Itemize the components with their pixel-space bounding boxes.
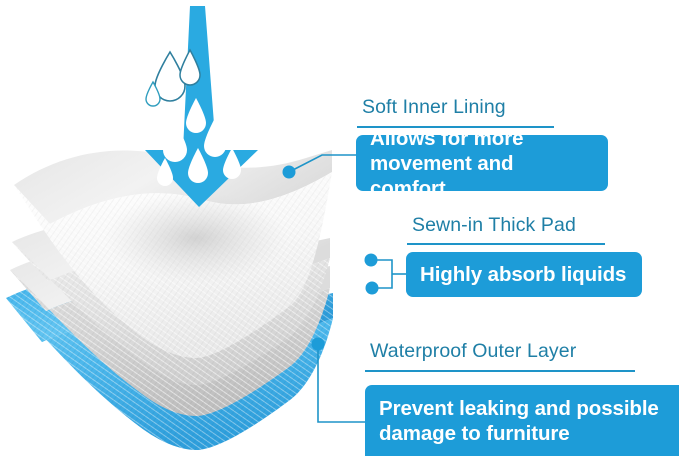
callout-box-soft-inner-lining: Allows for more movement and comfort bbox=[356, 135, 608, 191]
callout-box-waterproof-outer-layer: Prevent leaking and possible damage to f… bbox=[365, 385, 679, 456]
callout-body-soft-inner-lining: Allows for more movement and comfort bbox=[356, 126, 608, 201]
callout-heading-waterproof-outer-layer: Waterproof Outer Layer bbox=[370, 340, 576, 363]
infographic-canvas: Soft Inner Lining Allows for more moveme… bbox=[0, 0, 679, 456]
connector-dot bbox=[283, 166, 296, 179]
callout-underline bbox=[365, 370, 635, 372]
connector-waterproof-outer-layer bbox=[312, 338, 366, 423]
callout-body-sewn-in-thick-pad: Highly absorb liquids bbox=[406, 262, 640, 287]
callout-box-sewn-in-thick-pad: Highly absorb liquids bbox=[406, 252, 642, 297]
callout-heading-sewn-in-thick-pad: Sewn-in Thick Pad bbox=[412, 214, 576, 237]
callout-body-waterproof-outer-layer: Prevent leaking and possible damage to f… bbox=[365, 396, 673, 446]
connector-sewn-in-thick-pad bbox=[365, 254, 407, 295]
connector-dot bbox=[366, 282, 379, 295]
callout-heading-soft-inner-lining: Soft Inner Lining bbox=[362, 96, 506, 119]
connector-dot bbox=[312, 338, 325, 351]
callout-underline bbox=[407, 243, 605, 245]
connector-dot bbox=[365, 254, 378, 267]
